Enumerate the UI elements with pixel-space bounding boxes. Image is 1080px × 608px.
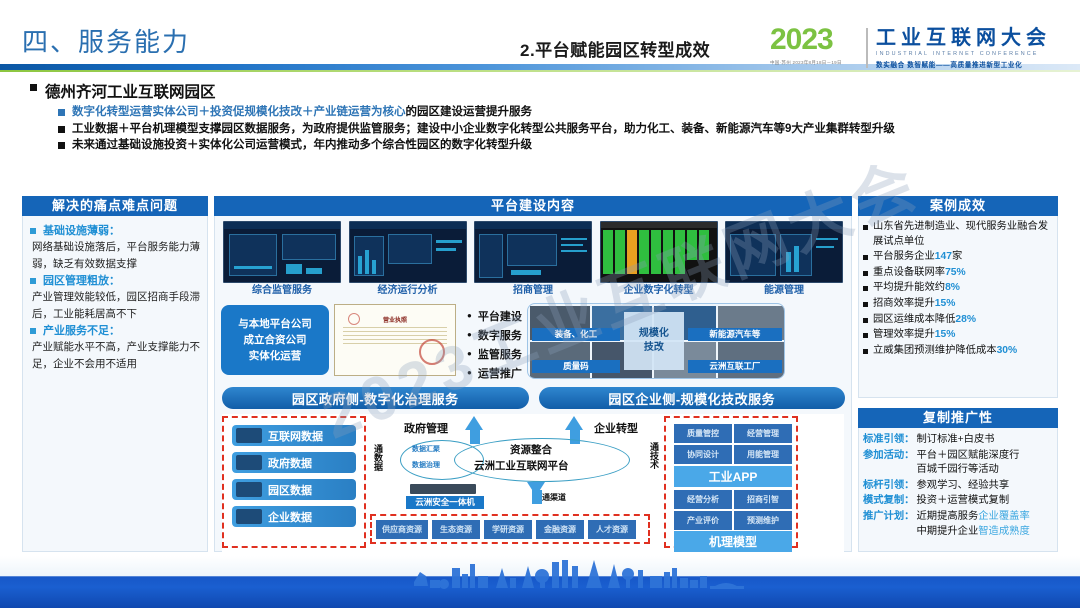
replication-row: 标准引领： 制订标准+白皮书 [863, 433, 1053, 448]
channel-label: 通渠道 [542, 492, 566, 503]
replication-key: 标杆引领： [863, 479, 914, 494]
bullet-square-icon [863, 318, 868, 323]
case-item: 平台服务企业147家 [863, 250, 1052, 265]
dashboard-screenshot [349, 221, 467, 283]
thumbnail-item[interactable]: 招商管理 [474, 221, 592, 297]
tech-label: 新能源汽车等 [688, 328, 782, 341]
bullet-square-icon [58, 109, 65, 116]
bullet-square-icon [863, 286, 868, 291]
tech-label: 云洲互联工厂 [688, 360, 782, 373]
bullet-square-icon [30, 84, 37, 91]
tech-center-line-1: 规模化 [639, 327, 669, 341]
license-stamp-icon [419, 339, 445, 365]
replication-value: 近期提高服务企业覆盖率中期提升企业智造成熟度 [916, 510, 1029, 539]
bullet-square-icon [30, 278, 36, 284]
model-cell[interactable]: 预测维护 [734, 511, 792, 530]
enterprise-transform-label: 企业转型 [594, 420, 638, 436]
logo-slogan: 数实融合 数智赋能——高质量推进新型工业化 [876, 59, 1051, 69]
architecture-diagram: 互联网数据 政府数据 园区数据 企业数据 通数据 [222, 414, 844, 554]
business-license-image: 营业执照 [334, 304, 456, 376]
app-cell-grid: 质量管控 经营管理 协同设计 用能管理 [674, 424, 792, 464]
app-cell[interactable]: 质量管控 [674, 424, 732, 443]
case-results-title: 案例成效 [858, 196, 1058, 216]
page-title: 四、服务能力 [22, 22, 190, 59]
data-source-label: 企业数据 [268, 509, 312, 525]
service-item: 运营推广 [467, 364, 522, 383]
case-item: 山东省先进制造业、现代服务业融合发展试点单位 [863, 220, 1052, 249]
service-item: 平台建设 [467, 307, 522, 326]
replication-title: 复制推广性 [858, 408, 1058, 428]
logo-chinese-name: 工业互联网大会 [876, 27, 1051, 49]
case-item-text: 平台服务企业147家 [873, 250, 962, 265]
data-source-item[interactable]: 园区数据 [232, 479, 356, 500]
pain-point-body-text: 产业赋能水平不高，产业支撑能力不足，企业不会用不适用 [32, 339, 200, 372]
case-item: 平均提升能效约8% [863, 281, 1052, 296]
bullet-level2-text: 工业数据＋平台机理模型支撑园区数据服务，为政府提供监管服务；建设中小企业数字化转… [72, 122, 1052, 138]
replication-key: 推广计划： [863, 510, 914, 525]
bullet-square-icon [30, 328, 36, 334]
pain-points-body: 基础设施薄弱： 网络基础设施落后，平台服务能力薄弱，缺乏有效数据支撑 园区管理粗… [22, 216, 208, 552]
license-stamp-small-icon [348, 313, 360, 325]
logo-year-subtitle: 中国·苏州 2023年8月18日－19日 [770, 60, 858, 66]
resource-chip[interactable]: 人才资源 [588, 520, 636, 539]
model-cell[interactable]: 经营分析 [674, 490, 732, 509]
bullet-highlight: 数字化转型运营实体公司＋投资促规模化技改＋产业链运营为核心 [72, 106, 406, 118]
case-results-panel: 案例成效 山东省先进制造业、现代服务业融合发展试点单位 平台服务企业147家 重… [858, 196, 1058, 398]
gov-manage-label: 政府管理 [404, 420, 448, 436]
case-item-text: 管理效率提升15% [873, 328, 955, 343]
model-cell[interactable]: 招商引智 [734, 490, 792, 509]
bullet-square-icon [863, 255, 868, 260]
case-item: 招商效率提升15% [863, 297, 1052, 312]
appliance-label: 云洲安全一体机 [406, 496, 484, 509]
resource-chip[interactable]: 生态资源 [432, 520, 480, 539]
replication-row: 标杆引领： 参观学习、经验共享 [863, 479, 1053, 494]
thumbnail-caption: 企业数字化转型 [600, 285, 718, 297]
gov-side-title: 园区政府侧-数字化治理服务 [222, 387, 529, 409]
conference-logo: 2023 中国·苏州 2023年8月18日－19日 工业互联网大会 INDUST… [770, 24, 1070, 72]
enterprise-icon [236, 509, 262, 524]
appliance-image [410, 484, 476, 494]
platform-content-panel: 平台建设内容 综合监管服务 [214, 196, 852, 552]
tech-label: 装备、化工 [532, 328, 620, 341]
apps-models-group: 质量管控 经营管理 协同设计 用能管理 工业APP 经营分析 招商引智 产业评价… [664, 416, 798, 548]
globe-icon [236, 428, 262, 443]
enterprise-side-title: 园区企业侧-规模化技改服务 [539, 387, 846, 409]
bullet-square-icon [58, 126, 65, 133]
thumbnail-row: 综合监管服务 经济运行分析 [215, 216, 851, 297]
replication-value: 制订标准+白皮书 [916, 433, 994, 448]
dashboard-screenshot [474, 221, 592, 283]
bullet-square-icon [863, 333, 868, 338]
resources-group: 供应商资源 生态资源 学研资源 金融资源 人才资源 [370, 514, 650, 544]
platform-content-title: 平台建设内容 [214, 196, 852, 216]
pain-point-heading: 基础设施薄弱： [30, 224, 200, 239]
replication-value: 平台＋园区赋能深度行百城千园行等活动 [916, 449, 1019, 478]
replication-panel: 复制推广性 标准引领： 制订标准+白皮书 参加活动： 平台＋园区赋能深度行百城千… [858, 408, 1058, 552]
mechanism-model-band: 机理模型 [674, 531, 792, 552]
government-building-icon [236, 455, 262, 470]
bullet-level2-item: 未来通过基础设施投资＋实体化公司运营模式，年内推动多个综合性园区的数字化转型升级 [58, 138, 1070, 154]
replication-row: 参加活动： 平台＋园区赋能深度行百城千园行等活动 [863, 449, 1053, 478]
bullet-square-icon [863, 271, 868, 276]
thumbnail-caption: 招商管理 [474, 285, 592, 297]
logo-divider [866, 28, 868, 68]
logo-year: 2023 [770, 25, 858, 55]
pain-point-heading-text: 基础设施薄弱： [43, 224, 120, 239]
tech-label: 质量码 [532, 360, 620, 373]
bullet-level2-text: 数字化转型运营实体公司＋投资促规模化技改＋产业链运营为核心的园区建设运营提升服务 [72, 105, 532, 121]
data-source-label: 互联网数据 [268, 428, 323, 444]
slide-header: 四、服务能力 2.平台赋能园区转型成效 2023 中国·苏州 2023年8月18… [0, 0, 1080, 82]
platform-line-1: 资源整合 [510, 442, 552, 457]
replication-row: 推广计划： 近期提高服务企业覆盖率中期提升企业智造成熟度 [863, 510, 1053, 539]
ellipse-label-1: 数据汇聚 [412, 444, 440, 454]
park-building-icon [236, 482, 262, 497]
pain-point-heading: 产业服务不足： [30, 324, 200, 339]
logo-text-block: 工业互联网大会 INDUSTRIAL INTERNET CONFERENCE 数… [876, 27, 1051, 69]
bullet-square-icon [58, 142, 65, 149]
dashboard-screenshot [223, 221, 341, 283]
replication-value: 投资＋运营模式复制 [916, 494, 1009, 509]
pain-point-body-text: 网络基础设施落后，平台服务能力薄弱，缺乏有效数据支撑 [32, 239, 200, 272]
bullet-level1-text: 德州齐河工业互联网园区 [45, 84, 216, 102]
pain-point-body-text: 产业管理效能较低，园区招商手段滞后，工业能耗居高不下 [32, 289, 200, 322]
bullet-square-icon [863, 302, 868, 307]
pain-point-heading: 园区管理粗放： [30, 274, 200, 289]
entity-line-2: 成立合资公司 [244, 332, 307, 348]
data-sources-group: 互联网数据 政府数据 园区数据 企业数据 [222, 416, 366, 548]
bullet-square-icon [863, 225, 868, 230]
replication-key: 模式复制： [863, 494, 914, 509]
case-item-text: 平均提升能效约8% [873, 281, 960, 296]
model-cell-grid: 经营分析 招商引智 产业评价 预测维护 [674, 490, 792, 530]
resource-chip[interactable]: 金融资源 [536, 520, 584, 539]
entity-line-1: 与本地平台公司 [238, 316, 312, 332]
city-skyline-icon [410, 556, 770, 596]
thumbnail-caption: 综合监管服务 [223, 285, 341, 297]
bullet-level2-item: 数字化转型运营实体公司＋投资促规模化技改＋产业链运营为核心的园区建设运营提升服务 [58, 105, 1070, 121]
entity-line-3: 实体化运营 [249, 348, 302, 364]
thumbnail-item[interactable]: 经济运行分析 [349, 221, 467, 297]
platform-content-body: 综合监管服务 经济运行分析 [214, 216, 852, 552]
replication-value: 参观学习、经验共享 [916, 479, 1009, 494]
pain-point-heading-text: 园区管理粗放： [43, 274, 120, 289]
dashboard-screenshot [600, 221, 718, 283]
case-item: 立威集团预测维护降低成本30% [863, 344, 1052, 359]
replication-body: 标准引领： 制订标准+白皮书 参加活动： 平台＋园区赋能深度行百城千园行等活动 … [858, 428, 1058, 552]
bullet-block: 德州齐河工业互联网园区 数字化转型运营实体公司＋投资促规模化技改＋产业链运营为核… [30, 84, 1070, 155]
replication-key: 标准引领： [863, 433, 914, 448]
pain-points-panel: 解决的痛点难点问题 基础设施薄弱： 网络基础设施落后，平台服务能力薄弱，缺乏有效… [22, 196, 208, 552]
resource-chip[interactable]: 学研资源 [484, 520, 532, 539]
data-source-item[interactable]: 政府数据 [232, 452, 356, 473]
platform-core: 政府管理 企业转型 数据汇聚 数据治理 资源整合 云洲工业互联网平台 云洲安全一… [392, 416, 642, 516]
resource-row: 供应商资源 生态资源 学研资源 金融资源 人才资源 [376, 520, 636, 539]
service-item: 数字服务 [467, 326, 522, 345]
thumbnail-caption: 能源管理 [725, 285, 843, 297]
case-item-text: 招商效率提升15% [873, 297, 955, 312]
data-source-label: 园区数据 [268, 482, 312, 498]
case-item: 重点设备联网率75% [863, 266, 1052, 281]
service-item: 监管服务 [467, 345, 522, 364]
bullet-level1: 德州齐河工业互联网园区 [30, 84, 1070, 102]
data-channel-label: 通数据 [372, 444, 383, 476]
data-source-item[interactable]: 互联网数据 [232, 425, 356, 446]
pain-point-heading-text: 产业服务不足： [43, 324, 120, 339]
dashboard-screenshot [725, 221, 843, 283]
replication-row: 模式复制： 投资＋运营模式复制 [863, 494, 1053, 509]
side-title-row: 园区政府侧-数字化治理服务 园区企业侧-规模化技改服务 [215, 383, 851, 409]
bullet-rest: 的园区建设运营提升服务 [406, 106, 533, 118]
tech-channel-label: 通技术 [648, 442, 659, 474]
platform-line-2: 云洲工业互联网平台 [474, 458, 569, 473]
service-list: 平台建设 数字服务 监管服务 运营推广 [467, 307, 522, 383]
case-item: 园区运维成本降低28% [863, 313, 1052, 328]
bullet-level2-text: 未来通过基础设施投资＋实体化公司运营模式，年内推动多个综合性园区的数字化转型升级 [72, 138, 532, 154]
bullet-square-icon [863, 349, 868, 354]
case-results-body: 山东省先进制造业、现代服务业融合发展试点单位 平台服务企业147家 重点设备联网… [858, 216, 1058, 398]
case-item-text: 山东省先进制造业、现代服务业融合发展试点单位 [873, 220, 1052, 249]
thumbnail-item[interactable]: 综合监管服务 [223, 221, 341, 297]
app-cell[interactable]: 协同设计 [674, 445, 732, 464]
slide-footer [0, 556, 1080, 608]
entity-company-box: 与本地平台公司 成立合资公司 实体化运营 [221, 305, 329, 375]
section-title: 2.平台赋能园区转型成效 [520, 36, 710, 61]
case-item-text: 重点设备联网率75% [873, 266, 966, 281]
app-cell[interactable]: 用能管理 [734, 445, 792, 464]
replication-key: 参加活动： [863, 449, 914, 464]
case-item: 管理效率提升15% [863, 328, 1052, 343]
middle-row: 与本地平台公司 成立合资公司 实体化运营 营业执照 平台建设 数字服务 监管服务… [215, 297, 851, 383]
ellipse-label-2: 数据治理 [412, 460, 440, 470]
data-source-item[interactable]: 企业数据 [232, 506, 356, 527]
thumbnail-item[interactable]: 能源管理 [725, 221, 843, 297]
data-source-label: 政府数据 [268, 455, 312, 471]
bullet-square-icon [30, 228, 36, 234]
thumbnail-item[interactable]: 企业数字化转型 [600, 221, 718, 297]
logo-year-block: 2023 中国·苏州 2023年8月18日－19日 [770, 25, 858, 71]
case-item-text: 园区运维成本降低28% [873, 313, 976, 328]
tech-upgrade-card: 装备、化工 新能源汽车等 质量码 云洲互联工厂 规模化 技改 [527, 303, 785, 379]
pain-points-title: 解决的痛点难点问题 [22, 196, 208, 216]
tech-center-label: 规模化 技改 [624, 312, 684, 370]
app-cell[interactable]: 经营管理 [734, 424, 792, 443]
bullet-level2-item: 工业数据＋平台机理模型支撑园区数据服务，为政府提供监管服务；建设中小企业数字化转… [58, 122, 1070, 138]
resource-chip[interactable]: 供应商资源 [376, 520, 428, 539]
tech-center-line-2: 技改 [644, 341, 664, 355]
thumbnail-caption: 经济运行分析 [349, 285, 467, 297]
case-item-text: 立威集团预测维护降低成本30% [873, 344, 1017, 359]
logo-english-name: INDUSTRIAL INTERNET CONFERENCE [876, 51, 1051, 57]
industrial-app-band: 工业APP [674, 466, 792, 487]
model-cell[interactable]: 产业评价 [674, 511, 732, 530]
